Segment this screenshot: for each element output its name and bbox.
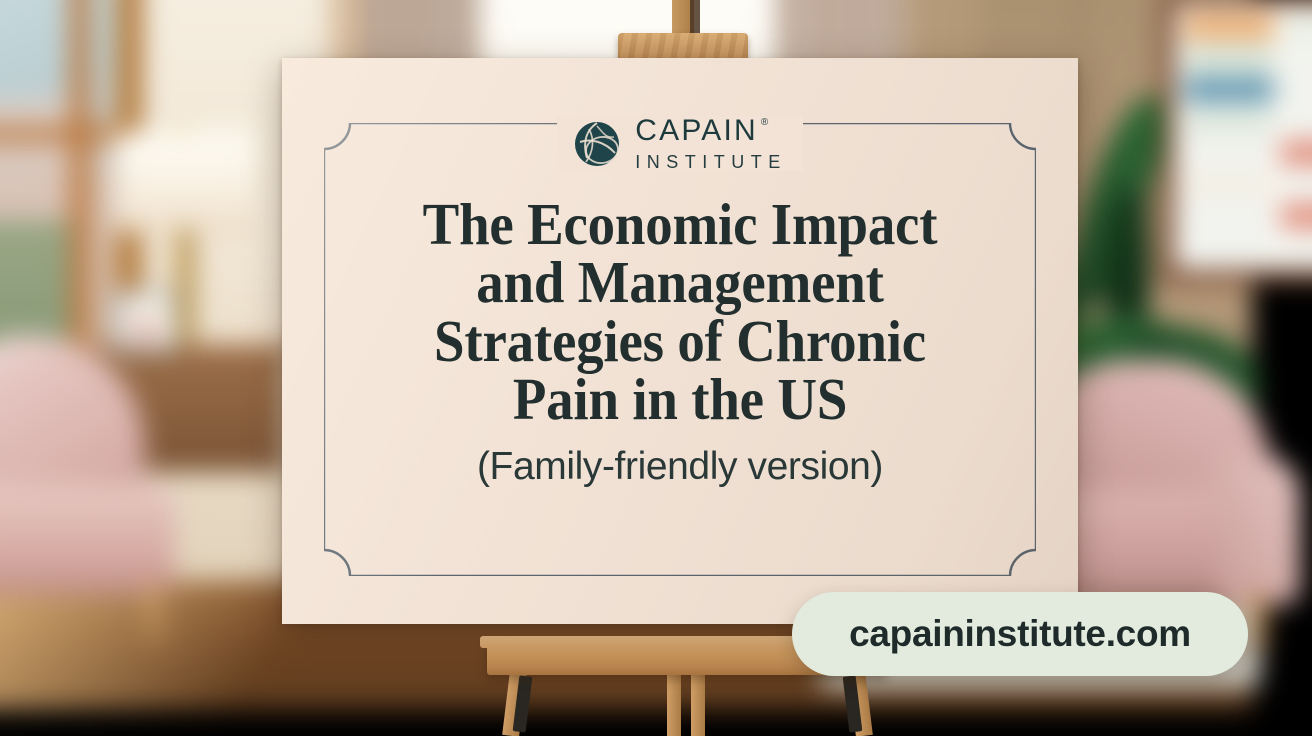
poster-headline: The Economic Impact and Management Strat…	[373, 195, 987, 429]
wall-art-swatch	[1281, 46, 1312, 71]
wall-art-swatch	[1184, 109, 1274, 134]
wall-art-swatch	[1281, 172, 1312, 197]
wall-art-swatch	[1281, 77, 1312, 102]
registered-mark: ®	[761, 118, 768, 128]
brand-name: CAPAIN	[635, 116, 758, 146]
capain-leaf-circle-icon	[573, 120, 621, 168]
lamp-shade	[116, 132, 256, 232]
wall-art-swatch	[1184, 141, 1274, 166]
easel-leg-center-b	[691, 672, 705, 736]
poster-scene: CAPAIN ® INSTITUTE The Economic Impact a…	[0, 0, 1312, 736]
easel-leg-center-a	[667, 672, 681, 736]
wall-art-swatch	[1184, 14, 1274, 39]
headline-line-3: Strategies of Chronic	[373, 312, 987, 370]
wall-art-swatch	[1281, 235, 1312, 260]
wall-art-swatch	[1184, 172, 1274, 197]
website-url-text: capaininstitute.com	[849, 613, 1191, 655]
lamp-finial	[174, 122, 188, 136]
wall-art-swatch	[1281, 14, 1312, 39]
wall-art-swatch	[1184, 46, 1274, 71]
headline-line-4: Pain in the US	[373, 370, 987, 428]
brand-logo: CAPAIN ® INSTITUTE	[557, 116, 803, 171]
headline-line-2: and Management	[373, 253, 987, 311]
headline-line-1: The Economic Impact	[373, 195, 987, 253]
wall-art-swatch	[1281, 204, 1312, 229]
wall-art-swatch	[1281, 109, 1312, 134]
wall-art-swatch	[1281, 141, 1312, 166]
brand-subname: INSTITUTE	[635, 153, 787, 171]
armchair-left	[0, 335, 215, 665]
framed-wall-art	[1162, 0, 1312, 282]
lamp-neck	[176, 230, 194, 350]
poster-board: CAPAIN ® INSTITUTE The Economic Impact a…	[282, 58, 1078, 624]
poster-subtitle: (Family-friendly version)	[477, 445, 883, 489]
website-url-badge[interactable]: capaininstitute.com	[792, 592, 1248, 676]
wall-art-swatch	[1184, 204, 1274, 229]
wall-art-swatch	[1184, 77, 1274, 102]
wall-art-swatch	[1184, 235, 1274, 260]
